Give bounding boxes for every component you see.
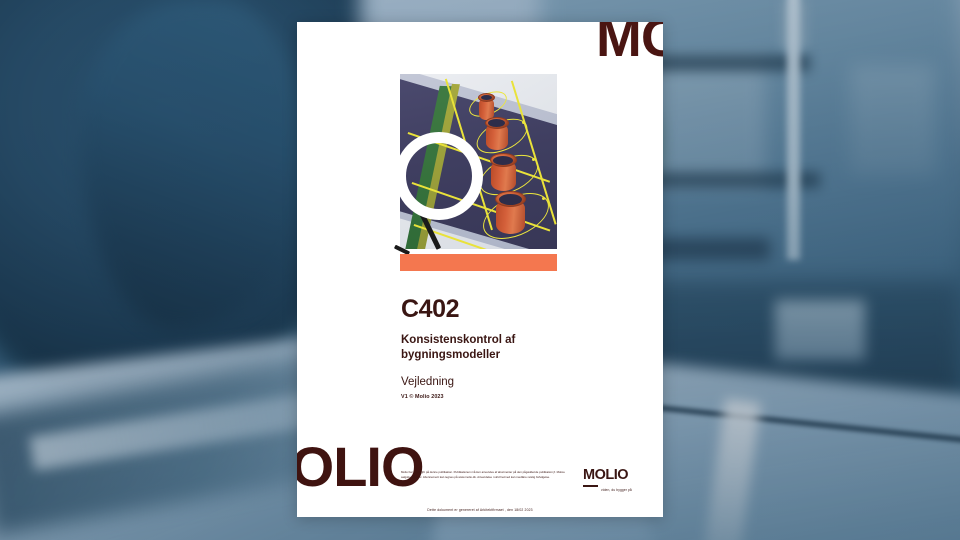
- title-block: C402 Konsistenskontrol af bygningsmodell…: [401, 297, 631, 400]
- molio-logo-tagline: viden, du bygger på: [601, 488, 645, 492]
- watermark-top-right: MOLIO: [596, 22, 663, 65]
- render-annotation-dot: [532, 158, 535, 161]
- document-subtitle: Konsistenskontrol af bygningsmodeller: [401, 333, 561, 363]
- render-pipe-bore: [488, 119, 505, 127]
- render-annotation-dot: [542, 197, 545, 200]
- footer-generated-note: Dette dokument er genereret af Arkitektf…: [297, 508, 663, 512]
- bim-model-render: [400, 74, 557, 249]
- cover-accent-bar: [400, 254, 557, 271]
- render-annotation-dot: [522, 121, 525, 124]
- render-pipe-bore: [493, 156, 513, 165]
- document-footer: Molio har copyright på denne publikation…: [297, 462, 663, 517]
- molio-logo: MOLIO viden, du bygger på: [583, 468, 645, 492]
- document-type: Vejledning: [401, 376, 631, 388]
- document-version: V1 © Molio 2023: [401, 394, 631, 400]
- screenshot-viewport: MOLIO MOLIO: [0, 0, 960, 540]
- cover-illustration: [400, 74, 557, 272]
- render-pipe-bore: [481, 95, 492, 100]
- molio-logo-rule: [583, 485, 598, 487]
- document-code: C402: [401, 297, 631, 322]
- render-pipe-penetration: [477, 186, 555, 246]
- footer-copyright-text: Molio har copyright på denne publikation…: [401, 470, 571, 479]
- document-page[interactable]: MOLIO MOLIO: [297, 22, 663, 517]
- molio-logo-wordmark: MOLIO: [583, 468, 645, 483]
- render-pipe-bore: [499, 194, 522, 205]
